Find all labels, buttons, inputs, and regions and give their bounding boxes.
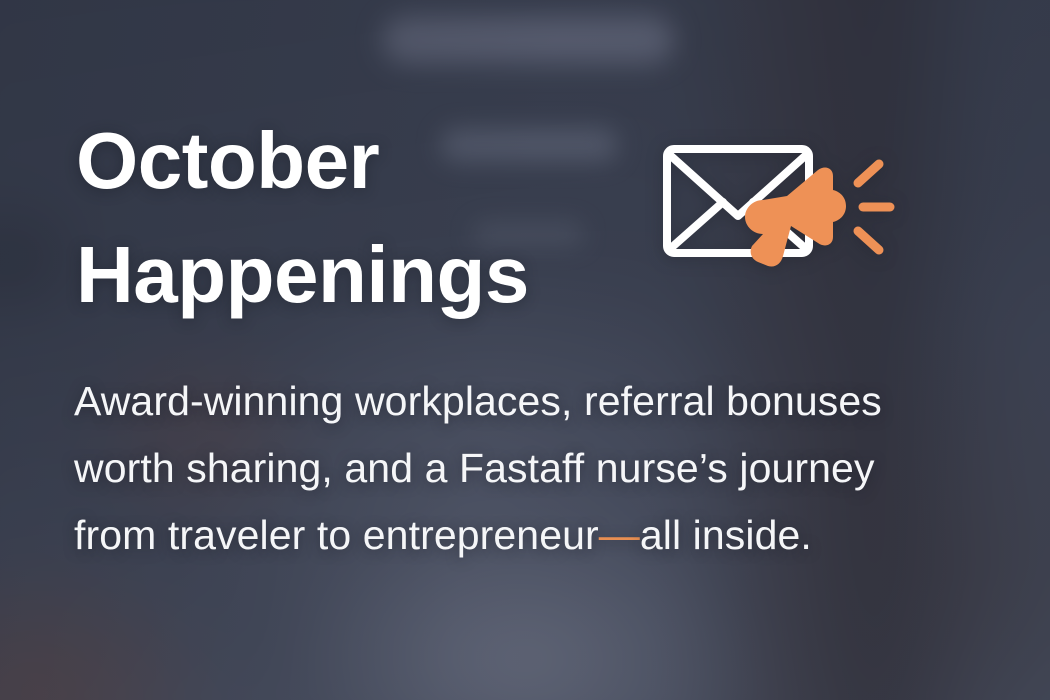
- megaphone-sound-lines: [858, 164, 890, 250]
- newsletter-banner: October Happenings Award-winning workpla…: [0, 0, 1050, 700]
- accent-em-dash: —: [599, 512, 640, 558]
- megaphone-icon: [745, 164, 890, 267]
- banner-subtext: Award-winning workplaces, referral bonus…: [74, 368, 944, 568]
- banner-content: October Happenings Award-winning workpla…: [0, 0, 1050, 700]
- subtext-after: all inside.: [640, 512, 812, 558]
- envelope-megaphone-icon-group: [655, 138, 905, 298]
- page-title: October Happenings: [76, 104, 716, 331]
